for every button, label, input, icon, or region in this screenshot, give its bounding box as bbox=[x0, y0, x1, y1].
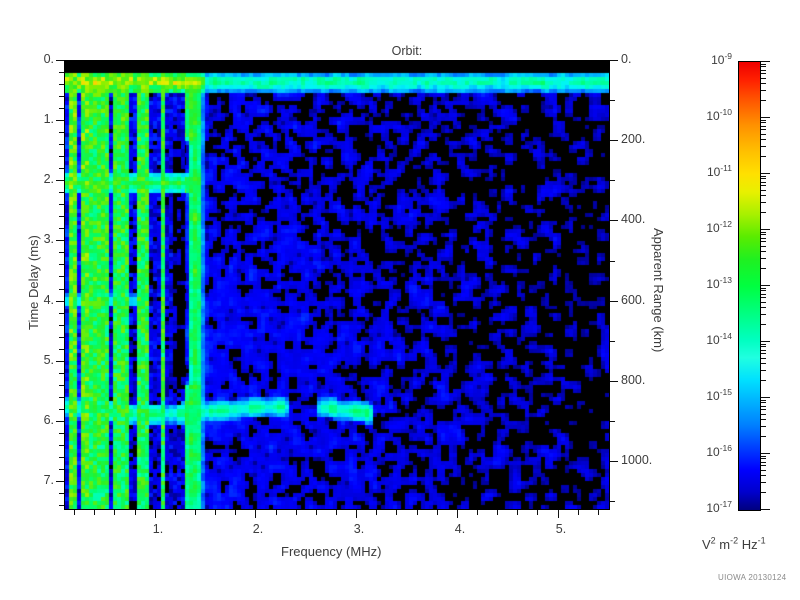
colorbar-minor-tick bbox=[761, 268, 766, 269]
colorbar-tick-label: 10-16 bbox=[680, 445, 732, 459]
colorbar-major-tick bbox=[761, 285, 770, 286]
colorbar-minor-tick bbox=[761, 419, 766, 420]
y-axis-right-minor-tick bbox=[610, 421, 615, 422]
y-axis-left-minor-tick bbox=[59, 96, 64, 97]
colorbar-major-tick bbox=[761, 229, 770, 230]
colorbar-minor-tick bbox=[761, 363, 766, 364]
colorbar-minor-tick bbox=[761, 232, 766, 233]
colorbar-minor-tick bbox=[761, 350, 766, 351]
colorbar-tick-label: 10-9 bbox=[680, 53, 732, 67]
colorbar-minor-tick bbox=[761, 234, 766, 235]
y-axis-left-minor-tick bbox=[59, 337, 64, 338]
colorbar-minor-tick bbox=[761, 324, 766, 325]
y-axis-left-tick-label: 2. bbox=[12, 172, 54, 186]
x-axis-tick-label: 2. bbox=[246, 522, 270, 536]
colorbar-minor-tick bbox=[761, 402, 766, 403]
y-axis-right-tick-label: 800. bbox=[621, 373, 645, 387]
colorbar-minor-tick bbox=[761, 251, 766, 252]
colorbar-minor-tick bbox=[761, 139, 766, 140]
colorbar-major-tick bbox=[761, 341, 770, 342]
x-axis-major-tick bbox=[356, 510, 357, 518]
y-axis-left-major-tick bbox=[56, 481, 64, 482]
x-axis-minor-tick bbox=[598, 510, 599, 515]
colorbar-minor-tick bbox=[761, 288, 766, 289]
x-axis-minor-tick bbox=[537, 510, 538, 515]
y-axis-left-minor-tick bbox=[59, 132, 64, 133]
credit-text: UIOWA 20130124 bbox=[718, 573, 786, 582]
colorbar-minor-tick bbox=[761, 178, 766, 179]
orbit-label: Orbit: bbox=[392, 44, 423, 58]
x-axis-minor-tick bbox=[94, 510, 95, 515]
colorbar-minor-tick bbox=[761, 146, 766, 147]
colorbar-tick-label: 10-14 bbox=[680, 333, 732, 347]
x-axis-minor-tick bbox=[578, 510, 579, 515]
y-axis-right-major-tick bbox=[610, 461, 618, 462]
y-axis-right-major-tick bbox=[610, 301, 618, 302]
y-axis-left-minor-tick bbox=[59, 228, 64, 229]
y-axis-right-minor-tick bbox=[610, 501, 615, 502]
colorbar-minor-tick bbox=[761, 238, 766, 239]
colorbar-minor-tick bbox=[761, 246, 766, 247]
x-axis-minor-tick bbox=[497, 510, 498, 515]
colorbar-minor-tick bbox=[761, 70, 766, 71]
y-axis-left-minor-tick bbox=[59, 192, 64, 193]
colorbar-minor-tick bbox=[761, 190, 766, 191]
y-axis-left-minor-tick bbox=[59, 156, 64, 157]
colorbar-minor-tick bbox=[761, 370, 766, 371]
y-axis-left-minor-tick bbox=[59, 108, 64, 109]
colorbar-minor-tick bbox=[761, 66, 766, 67]
colorbar-minor-tick bbox=[761, 78, 766, 79]
x-axis-minor-tick bbox=[114, 510, 115, 515]
y-axis-left-minor-tick bbox=[59, 349, 64, 350]
y-axis-right-major-tick bbox=[610, 381, 618, 382]
y-axis-left-minor-tick bbox=[59, 469, 64, 470]
colorbar-minor-tick bbox=[761, 156, 766, 157]
y-axis-left-title: Time Delay (ms) bbox=[26, 235, 41, 330]
x-axis-tick-label: 1. bbox=[146, 522, 170, 536]
colorbar-minor-tick bbox=[761, 358, 766, 359]
colorbar-minor-tick bbox=[761, 414, 766, 415]
x-axis-tick-label: 5. bbox=[549, 522, 573, 536]
y-axis-right-minor-tick bbox=[610, 341, 615, 342]
y-axis-left-minor-tick bbox=[59, 168, 64, 169]
y-axis-left-minor-tick bbox=[59, 493, 64, 494]
y-axis-left-minor-tick bbox=[59, 409, 64, 410]
x-axis-minor-tick bbox=[135, 510, 136, 515]
x-axis-major-tick bbox=[155, 510, 156, 518]
y-axis-left-tick-label: 0. bbox=[12, 52, 54, 66]
colorbar-minor-tick bbox=[761, 307, 766, 308]
colorbar-minor-tick bbox=[761, 185, 766, 186]
y-axis-left-minor-tick bbox=[59, 204, 64, 205]
x-axis-minor-tick bbox=[74, 510, 75, 515]
x-axis-major-tick bbox=[457, 510, 458, 518]
x-axis-minor-tick bbox=[517, 510, 518, 515]
y-axis-left-major-tick bbox=[56, 240, 64, 241]
y-axis-left-minor-tick bbox=[59, 216, 64, 217]
y-axis-right-tick-label: 200. bbox=[621, 132, 645, 146]
y-axis-left-minor-tick bbox=[59, 276, 64, 277]
colorbar-minor-tick bbox=[761, 73, 766, 74]
y-axis-right-minor-tick bbox=[610, 180, 615, 181]
colorbar-minor-tick bbox=[761, 100, 766, 101]
colorbar-tick-label: 10-11 bbox=[680, 165, 732, 179]
colorbar-minor-tick bbox=[761, 202, 766, 203]
colorbar-unit-label: V2 m-2 Hz-1 bbox=[702, 537, 766, 552]
x-axis-minor-tick bbox=[477, 510, 478, 515]
colorbar-minor-tick bbox=[761, 462, 766, 463]
colorbar-major-tick bbox=[761, 117, 770, 118]
x-axis-minor-tick bbox=[336, 510, 337, 515]
y-axis-right-major-tick bbox=[610, 140, 618, 141]
y-axis-left-major-tick bbox=[56, 120, 64, 121]
ionogram-figure: Orbit: 10528 2012-04-06 (Day 097) 10:36:… bbox=[0, 0, 800, 600]
y-axis-left-minor-tick bbox=[59, 144, 64, 145]
colorbar-minor-tick bbox=[761, 241, 766, 242]
y-axis-left-major-tick bbox=[56, 301, 64, 302]
colorbar-minor-tick bbox=[761, 134, 766, 135]
x-axis-minor-tick bbox=[276, 510, 277, 515]
y-axis-left-minor-tick bbox=[59, 457, 64, 458]
colorbar-tick-label: 10-17 bbox=[680, 501, 732, 515]
y-axis-left-minor-tick bbox=[59, 264, 64, 265]
y-axis-left-minor-tick bbox=[59, 325, 64, 326]
spectrogram-canvas bbox=[65, 61, 609, 509]
x-axis-minor-tick bbox=[316, 510, 317, 515]
y-axis-left-major-tick bbox=[56, 361, 64, 362]
y-axis-right-minor-tick bbox=[610, 100, 615, 101]
x-axis-minor-tick bbox=[296, 510, 297, 515]
y-axis-left-tick-label: 7. bbox=[12, 473, 54, 487]
y-axis-left-minor-tick bbox=[59, 84, 64, 85]
colorbar-minor-tick bbox=[761, 182, 766, 183]
colorbar-minor-tick bbox=[761, 380, 766, 381]
colorbar-minor-tick bbox=[761, 482, 766, 483]
colorbar-minor-tick bbox=[761, 436, 766, 437]
y-axis-left-tick-label: 5. bbox=[12, 353, 54, 367]
colorbar-minor-tick bbox=[761, 409, 766, 410]
colorbar-minor-tick bbox=[761, 64, 766, 65]
colorbar-minor-tick bbox=[761, 470, 766, 471]
y-axis-left-major-tick bbox=[56, 60, 64, 61]
y-axis-left-major-tick bbox=[56, 180, 64, 181]
colorbar-minor-tick bbox=[761, 353, 766, 354]
colorbar-minor-tick bbox=[761, 297, 766, 298]
y-axis-left-minor-tick bbox=[59, 445, 64, 446]
colorbar-minor-tick bbox=[761, 294, 766, 295]
x-axis-major-tick bbox=[255, 510, 256, 518]
x-axis-minor-tick bbox=[175, 510, 176, 515]
y-axis-right-tick-label: 600. bbox=[621, 293, 645, 307]
y-axis-left-minor-tick bbox=[59, 385, 64, 386]
x-axis-minor-tick bbox=[396, 510, 397, 515]
colorbar-minor-tick bbox=[761, 400, 766, 401]
y-axis-left-minor-tick bbox=[59, 289, 64, 290]
colorbar-minor-tick bbox=[761, 458, 766, 459]
colorbar-minor-tick bbox=[761, 302, 766, 303]
y-axis-left-minor-tick bbox=[59, 72, 64, 73]
colorbar-minor-tick bbox=[761, 314, 766, 315]
y-axis-left-tick-label: 6. bbox=[12, 413, 54, 427]
colorbar-minor-tick bbox=[761, 456, 766, 457]
colorbar-tick-label: 10-13 bbox=[680, 277, 732, 291]
colorbar-minor-tick bbox=[761, 290, 766, 291]
x-axis-minor-tick bbox=[235, 510, 236, 515]
colorbar-minor-tick bbox=[761, 212, 766, 213]
colorbar-minor-tick bbox=[761, 426, 766, 427]
colorbar-minor-tick bbox=[761, 346, 766, 347]
colorbar-minor-tick bbox=[761, 492, 766, 493]
colorbar-major-tick bbox=[761, 173, 770, 174]
x-axis-minor-tick bbox=[215, 510, 216, 515]
x-axis-tick-label: 3. bbox=[347, 522, 371, 536]
y-axis-right-tick-label: 1000. bbox=[621, 453, 652, 467]
y-axis-right-major-tick bbox=[610, 60, 618, 61]
colorbar-minor-tick bbox=[761, 258, 766, 259]
x-axis-title: Frequency (MHz) bbox=[281, 544, 381, 559]
y-axis-left-minor-tick bbox=[59, 505, 64, 506]
colorbar-tick-label: 10-10 bbox=[680, 109, 732, 123]
colorbar-major-tick bbox=[761, 509, 770, 510]
y-axis-left-minor-tick bbox=[59, 433, 64, 434]
colorbar-tick-label: 10-12 bbox=[680, 221, 732, 235]
colorbar-minor-tick bbox=[761, 465, 766, 466]
x-axis-minor-tick bbox=[417, 510, 418, 515]
colorbar-minor-tick bbox=[761, 129, 766, 130]
y-axis-left-minor-tick bbox=[59, 373, 64, 374]
colorbar-major-tick bbox=[761, 453, 770, 454]
x-axis-major-tick bbox=[558, 510, 559, 518]
x-axis-tick-label: 4. bbox=[448, 522, 472, 536]
colorbar-minor-tick bbox=[761, 122, 766, 123]
colorbar-minor-tick bbox=[761, 475, 766, 476]
y-axis-right-tick-label: 400. bbox=[621, 212, 645, 226]
x-axis-minor-tick bbox=[376, 510, 377, 515]
y-axis-left-major-tick bbox=[56, 421, 64, 422]
colorbar-minor-tick bbox=[761, 126, 766, 127]
y-axis-left-tick-label: 1. bbox=[12, 112, 54, 126]
colorbar-minor-tick bbox=[761, 344, 766, 345]
y-axis-left-minor-tick bbox=[59, 397, 64, 398]
colorbar-minor-tick bbox=[761, 120, 766, 121]
y-axis-right-tick-label: 0. bbox=[621, 52, 631, 66]
y-axis-left-minor-tick bbox=[59, 252, 64, 253]
x-axis-minor-tick bbox=[195, 510, 196, 515]
y-axis-right-title: Apparent Range (km) bbox=[651, 228, 666, 352]
x-axis-minor-tick bbox=[437, 510, 438, 515]
colorbar-minor-tick bbox=[761, 90, 766, 91]
colorbar-minor-tick bbox=[761, 195, 766, 196]
colorbar-minor-tick bbox=[761, 176, 766, 177]
colorbar-major-tick bbox=[761, 61, 770, 62]
y-axis-right-minor-tick bbox=[610, 261, 615, 262]
colorbar-minor-tick bbox=[761, 83, 766, 84]
colorbar-minor-tick bbox=[761, 406, 766, 407]
colorbar-major-tick bbox=[761, 397, 770, 398]
y-axis-left-minor-tick bbox=[59, 313, 64, 314]
colorbar-tick-label: 10-15 bbox=[680, 389, 732, 403]
colorbar-gradient bbox=[738, 61, 761, 511]
y-axis-right-major-tick bbox=[610, 220, 618, 221]
radargram-plot-area bbox=[64, 60, 610, 510]
